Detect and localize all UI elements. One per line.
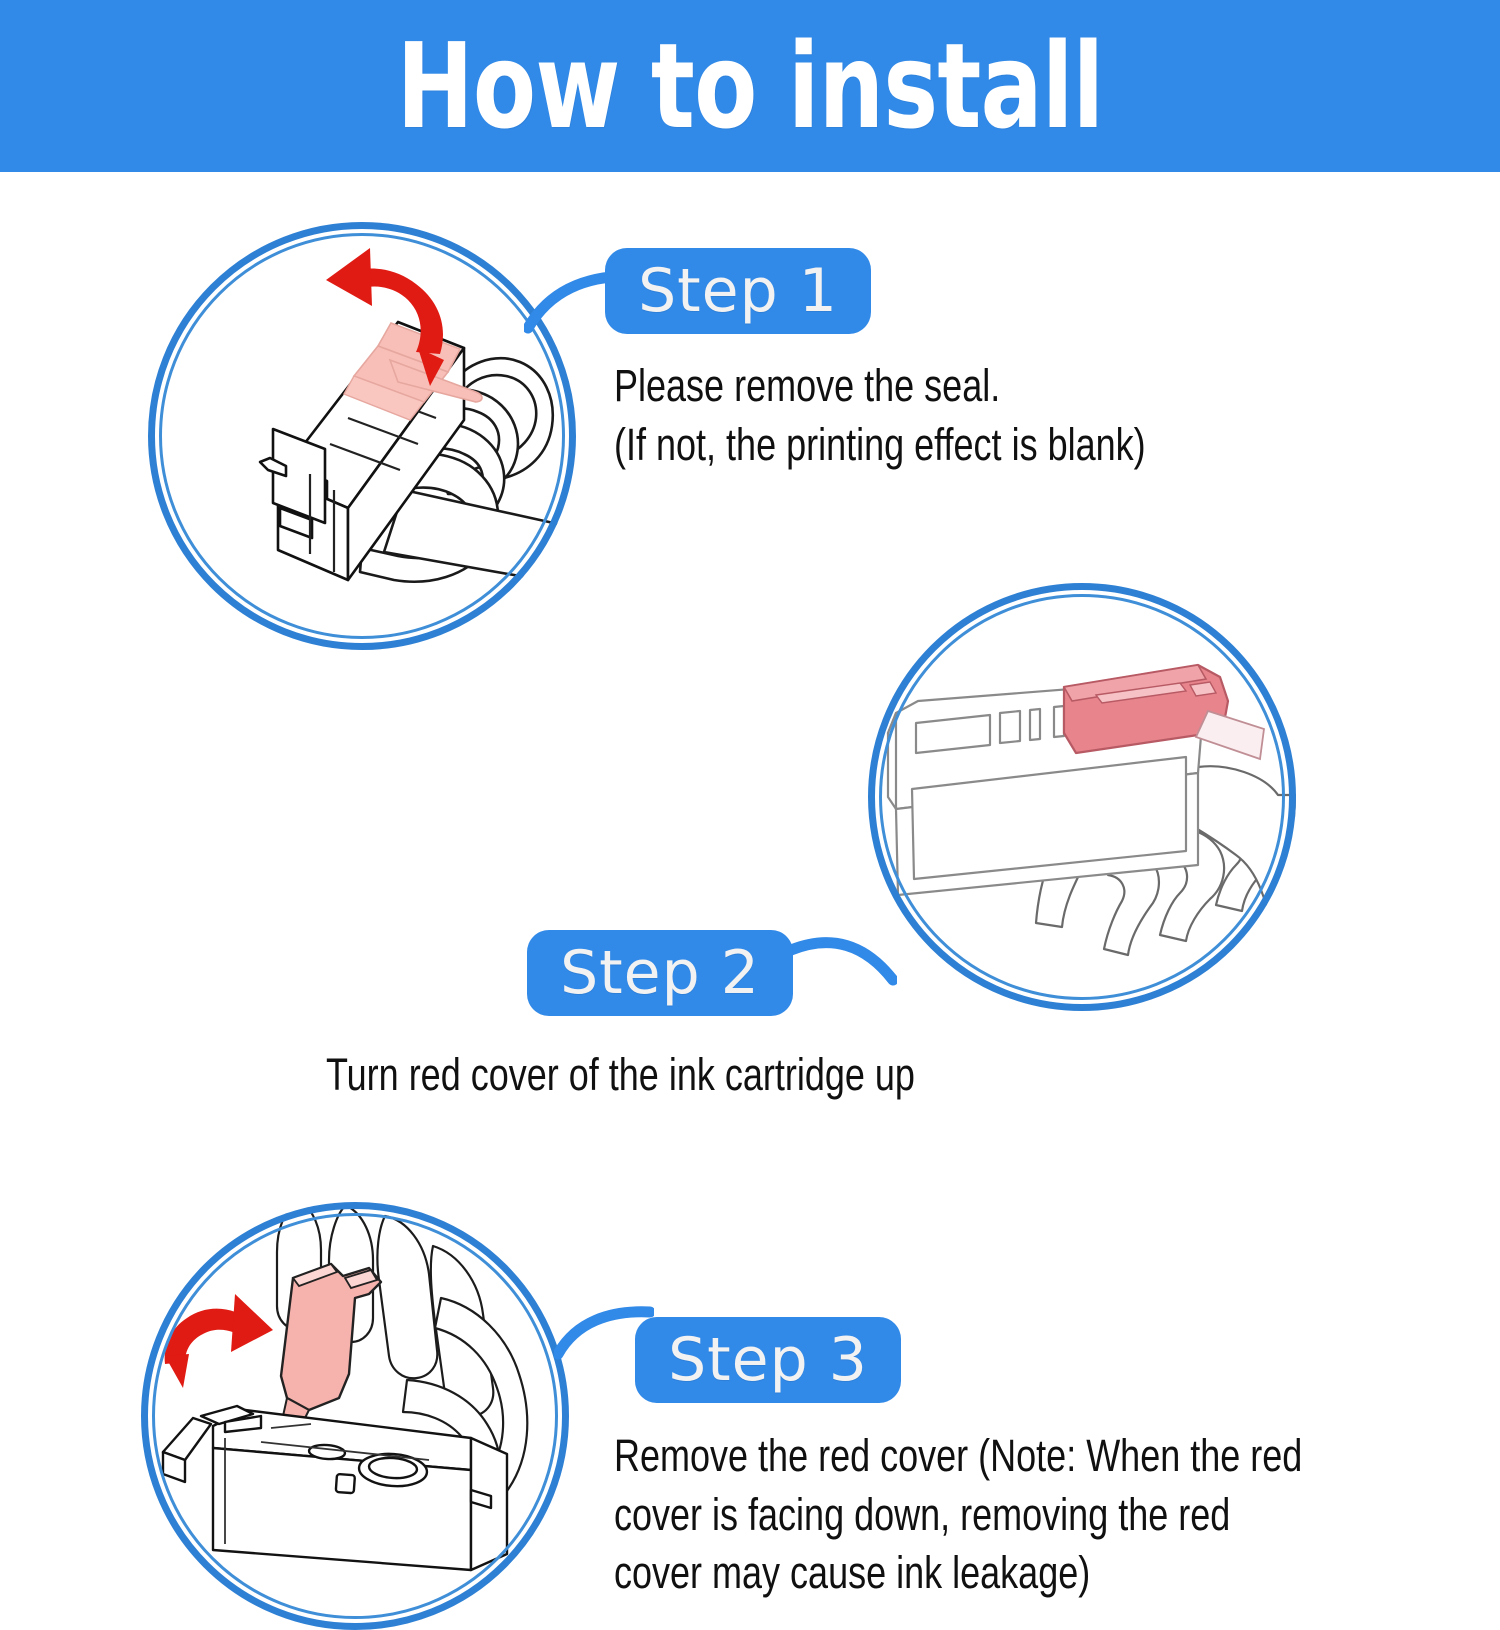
circle-ring-inner: [879, 594, 1285, 1000]
step-2-illustration-circle: [868, 583, 1296, 1011]
circle-ring-inner: [152, 1213, 558, 1619]
header-banner: How to install: [0, 0, 1500, 172]
page-title: How to install: [397, 27, 1104, 145]
step-2-block: Step 2 Turn red cover of the ink cartrid…: [0, 562, 1500, 1022]
step-1-badge-label: Step 1: [638, 261, 838, 321]
step-3-caption-line-3: cover may cause ink leakage): [614, 1544, 1302, 1603]
step-2-connector: [787, 928, 897, 994]
step-3-block: Step 3 Remove the red cover (Note: When …: [0, 1002, 1500, 1471]
step-1-badge[interactable]: Step 1: [605, 248, 871, 334]
step-3-caption-line-1: Remove the red cover (Note: When the red: [614, 1427, 1302, 1486]
step-3-badge-label: Step 3: [668, 1330, 868, 1390]
step-3-caption: Remove the red cover (Note: When the red…: [614, 1427, 1302, 1603]
step-3-illustration-circle: [141, 1202, 569, 1630]
step-2-badge-label: Step 2: [560, 943, 760, 1003]
step-3-caption-line-2: cover is facing down, removing the red: [614, 1486, 1302, 1545]
step-3-badge[interactable]: Step 3: [635, 1317, 901, 1403]
steps-stage: Step 1 Please remove the seal. (If not, …: [0, 172, 1500, 1471]
step-1-caption-line-1: Please remove the seal.: [614, 357, 1146, 416]
step-1-caption-line-2: (If not, the printing effect is blank): [614, 416, 1146, 475]
step-1-caption: Please remove the seal. (If not, the pri…: [614, 357, 1146, 474]
